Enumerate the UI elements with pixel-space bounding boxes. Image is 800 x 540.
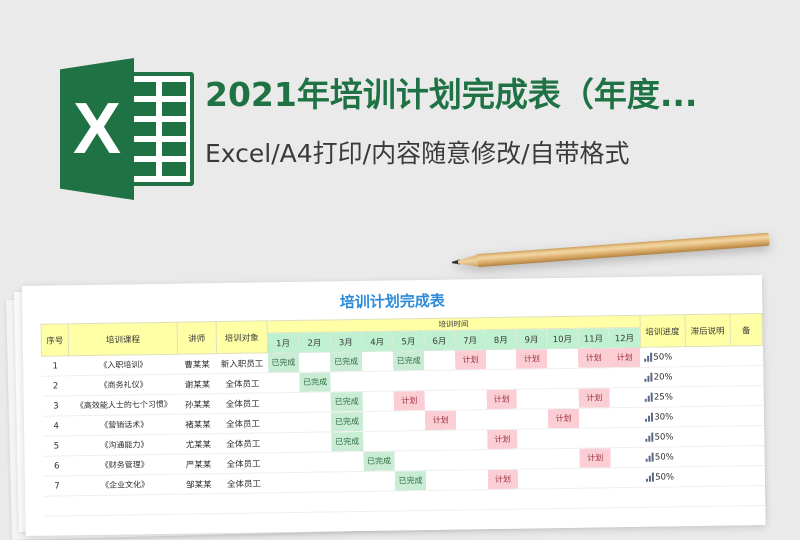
cell-teacher: 严某某 [179, 454, 218, 475]
cell-audience: 全体员工 [218, 453, 270, 474]
cell-month-7: 计划 [455, 350, 486, 370]
cell-month-2 [300, 452, 332, 472]
cell-progress: 50% [641, 427, 686, 448]
cell-month-7 [456, 430, 487, 450]
cell-month-9 [518, 469, 549, 489]
cell-empty [457, 510, 488, 530]
cell-month-4 [362, 351, 394, 371]
cell-month-7 [456, 410, 487, 430]
cell-month-3: 已完成 [330, 351, 362, 371]
cell-empty [270, 492, 302, 512]
cell-month-1 [268, 392, 300, 412]
cell-month-1 [269, 432, 301, 452]
cell-month-9 [517, 409, 548, 429]
th-audience: 培训对象 [216, 321, 268, 354]
cell-month-9 [518, 429, 549, 449]
cell-audience: 全体员工 [217, 373, 269, 394]
cell-empty [580, 488, 611, 508]
cell-month-8: 计划 [486, 389, 517, 409]
cell-month-6 [424, 350, 455, 370]
cell-index: 4 [42, 416, 69, 436]
cell-index: 1 [42, 356, 69, 376]
cell-month-3 [332, 471, 364, 491]
cell-index: 3 [42, 396, 69, 416]
cell-lag [687, 446, 732, 467]
cell-index: 5 [43, 436, 70, 456]
th-month-3: 3月 [330, 331, 362, 351]
cell-progress: 50% [642, 467, 687, 488]
cell-month-6: 计划 [425, 410, 456, 430]
cell-remark [731, 386, 763, 406]
cell-month-11 [579, 428, 610, 448]
cell-month-2 [300, 432, 332, 452]
cell-month-4 [363, 471, 395, 491]
th-month-4: 4月 [361, 331, 393, 351]
cell-month-9 [518, 449, 549, 469]
cell-remark [732, 466, 764, 486]
cell-month-11 [579, 408, 610, 428]
promo-banner: X 2021年培训计划完成表（年度... Excel/A4打印/内容随意修改/自… [0, 0, 800, 243]
cell-empty [301, 492, 333, 512]
cell-month-11: 计划 [579, 388, 610, 408]
cell-month-11: 计划 [580, 448, 611, 468]
cell-month-8 [486, 369, 517, 389]
cell-month-8 [487, 449, 518, 469]
cell-empty [732, 486, 764, 506]
cell-progress: 25% [641, 387, 686, 408]
th-month-8: 8月 [485, 329, 516, 349]
excel-logo-grid [126, 72, 194, 186]
cell-month-5 [394, 411, 426, 431]
cell-month-2 [300, 392, 332, 412]
cell-month-2 [299, 352, 331, 372]
cell-empty [549, 488, 580, 508]
cell-empty [395, 491, 427, 511]
cell-empty [518, 489, 549, 509]
cell-empty [688, 506, 733, 527]
cell-month-1: 已完成 [268, 352, 300, 372]
cell-empty [733, 506, 765, 526]
bar-chart-icon [645, 413, 654, 422]
cell-month-8: 计划 [487, 429, 518, 449]
th-progress: 培训进度 [640, 315, 686, 348]
th-month-9: 9月 [516, 329, 547, 349]
th-month-10: 10月 [547, 328, 578, 348]
progress-value: 25% [654, 392, 673, 402]
cell-empty [643, 507, 688, 528]
cell-audience: 全体员工 [218, 433, 270, 454]
cell-month-5 [394, 431, 426, 451]
cell-month-9 [517, 369, 548, 389]
cell-course: 《高效能人士的七个习惯》 [69, 394, 178, 416]
cell-month-12 [610, 387, 641, 407]
cell-month-2 [300, 412, 332, 432]
cell-empty [270, 512, 302, 532]
cell-month-5: 已完成 [395, 471, 427, 491]
cell-index: 2 [42, 376, 69, 396]
cell-lag [686, 426, 731, 447]
cell-progress: 50% [640, 347, 685, 368]
cell-index: 7 [43, 476, 70, 496]
cell-month-1 [268, 412, 300, 432]
cell-month-6 [425, 430, 456, 450]
cell-empty [611, 487, 642, 507]
cell-empty [427, 510, 458, 530]
cell-month-10 [549, 448, 580, 468]
cell-course: 《财务管理》 [70, 454, 179, 476]
cell-month-7 [456, 390, 487, 410]
cell-month-12 [611, 467, 642, 487]
cell-empty [301, 512, 333, 532]
cell-empty [364, 511, 396, 531]
cell-audience: 全体员工 [218, 473, 270, 494]
cell-teacher: 尤某某 [179, 434, 218, 455]
cell-empty [687, 486, 732, 507]
cell-audience: 全体员工 [217, 413, 269, 434]
cell-teacher: 孙某某 [178, 394, 217, 415]
cell-month-1 [269, 452, 301, 472]
cell-empty [488, 489, 519, 509]
th-month-2: 2月 [299, 332, 331, 352]
cell-audience: 新入职员工 [216, 353, 268, 374]
bar-chart-icon [645, 373, 654, 382]
cell-remark [731, 406, 763, 426]
cell-month-12: 计划 [609, 347, 640, 367]
cell-lag [686, 366, 731, 387]
cell-course: 《入职培训》 [69, 354, 178, 376]
cell-month-10 [547, 368, 578, 388]
progress-value: 50% [655, 472, 674, 482]
cell-month-7 [457, 470, 488, 490]
cell-month-8 [487, 409, 518, 429]
cell-month-10 [548, 428, 579, 448]
cell-month-6 [425, 370, 456, 390]
cell-course: 《沟通能力》 [70, 434, 179, 456]
cell-empty [395, 511, 427, 531]
cell-month-1 [268, 372, 300, 392]
th-course: 培训课程 [68, 322, 177, 356]
cell-month-7 [456, 450, 487, 470]
cell-month-4 [362, 391, 394, 411]
cell-month-2 [301, 472, 333, 492]
th-month-1: 1月 [267, 332, 299, 352]
cell-teacher: 曹某某 [178, 354, 217, 375]
cell-lag [686, 386, 731, 407]
cell-month-1 [269, 472, 301, 492]
cell-month-12 [611, 447, 642, 467]
cell-month-9 [517, 389, 548, 409]
cell-month-11 [578, 368, 609, 388]
th-month-12: 12月 [609, 327, 640, 347]
cell-month-6 [426, 470, 457, 490]
cell-progress: 50% [642, 447, 687, 468]
bar-chart-icon [646, 453, 655, 462]
cell-empty [519, 509, 550, 529]
cell-lag [685, 346, 730, 367]
cell-remark [730, 346, 762, 366]
th-index: 序号 [41, 324, 69, 356]
cell-course: 《商务礼仪》 [69, 374, 178, 396]
cell-empty [332, 491, 364, 511]
cell-month-11 [580, 468, 611, 488]
bar-chart-icon [645, 433, 654, 442]
cell-course: 《企业文化》 [70, 474, 179, 496]
cell-remark [732, 446, 764, 466]
cell-empty [333, 511, 365, 531]
cell-empty [44, 496, 71, 516]
cell-empty [71, 514, 180, 536]
cell-progress: 30% [641, 407, 686, 428]
cell-course: 《营销话术》 [70, 414, 179, 436]
cell-empty [219, 513, 271, 534]
cell-month-2: 已完成 [299, 372, 331, 392]
cell-teacher: 邹某某 [179, 474, 218, 495]
cell-empty [457, 490, 488, 510]
cell-month-3: 已完成 [331, 431, 363, 451]
progress-value: 20% [654, 372, 673, 382]
cell-month-4 [363, 431, 395, 451]
cell-month-8 [486, 349, 517, 369]
cell-month-3: 已完成 [331, 391, 363, 411]
cell-month-11: 计划 [578, 348, 609, 368]
cell-month-5: 计划 [394, 391, 426, 411]
cell-month-4: 已完成 [363, 451, 395, 471]
progress-value: 50% [655, 452, 674, 462]
cell-month-10: 计划 [548, 408, 579, 428]
bar-chart-icon [644, 353, 653, 362]
cell-month-5: 已完成 [393, 351, 425, 371]
cell-month-12 [610, 407, 641, 427]
cell-empty [364, 491, 396, 511]
cell-month-3 [332, 451, 364, 471]
cell-remark [731, 366, 763, 386]
cell-month-9: 计划 [516, 349, 547, 369]
excel-logo-letter: X [60, 58, 134, 200]
cell-month-8: 计划 [487, 469, 518, 489]
spreadsheet-preview: 培训计划完成表 序号 培训课程 讲师 培训对象 培训时间 培训进度 滞后说明 备… [22, 275, 766, 536]
cell-month-5 [394, 451, 426, 471]
cell-month-12 [610, 427, 641, 447]
cell-empty [642, 487, 687, 508]
cell-month-3: 已完成 [331, 411, 363, 431]
banner-subtitle: Excel/A4打印/内容随意修改/自带格式 [205, 134, 785, 170]
th-month-11: 11月 [578, 328, 609, 348]
bar-chart-icon [645, 393, 654, 402]
banner-title: 2021年培训计划完成表（年度... [205, 68, 765, 116]
cell-month-10 [548, 388, 579, 408]
cell-month-7 [455, 370, 486, 390]
cell-month-5 [393, 371, 425, 391]
th-teacher: 讲师 [177, 322, 216, 355]
cell-month-4 [362, 411, 394, 431]
excel-logo-icon: X [60, 58, 196, 200]
th-remark: 备 [730, 314, 763, 346]
training-plan-table: 序号 培训课程 讲师 培训对象 培训时间 培训进度 滞后说明 备 1月2月3月4… [41, 313, 766, 536]
th-lag: 滞后说明 [685, 314, 731, 347]
cell-audience: 全体员工 [217, 393, 269, 414]
progress-value: 30% [654, 412, 673, 422]
cell-index: 6 [43, 456, 70, 476]
cell-month-10 [549, 468, 580, 488]
cell-month-10 [547, 348, 578, 368]
cell-empty [180, 514, 219, 535]
cell-empty [580, 508, 611, 528]
bar-chart-icon [646, 473, 655, 482]
th-month-6: 6月 [424, 330, 455, 350]
cell-lag [686, 406, 731, 427]
th-month-5: 5月 [393, 331, 425, 351]
cell-teacher: 谢某某 [178, 374, 217, 395]
cell-empty [488, 509, 519, 529]
cell-teacher: 褚某某 [178, 414, 217, 435]
cell-empty [180, 494, 219, 515]
progress-value: 50% [655, 432, 674, 442]
cell-progress: 20% [640, 367, 685, 388]
cell-month-3 [331, 371, 363, 391]
cell-empty [611, 507, 642, 527]
sheet-title: 培训计划完成表 [22, 285, 762, 317]
cell-month-12 [609, 367, 640, 387]
cell-empty [218, 493, 270, 514]
cell-month-6 [426, 450, 457, 470]
table-body: 1《入职培训》曹某某新入职员工已完成已完成已完成计划计划计划计划50%2《商务礼… [42, 346, 766, 536]
cell-lag [687, 466, 732, 487]
cell-month-6 [425, 390, 456, 410]
cell-empty [71, 494, 180, 516]
progress-value: 50% [653, 352, 672, 362]
th-month-7: 7月 [455, 330, 486, 350]
cell-month-4 [362, 371, 394, 391]
cell-empty [426, 490, 457, 510]
cell-remark [732, 426, 764, 446]
